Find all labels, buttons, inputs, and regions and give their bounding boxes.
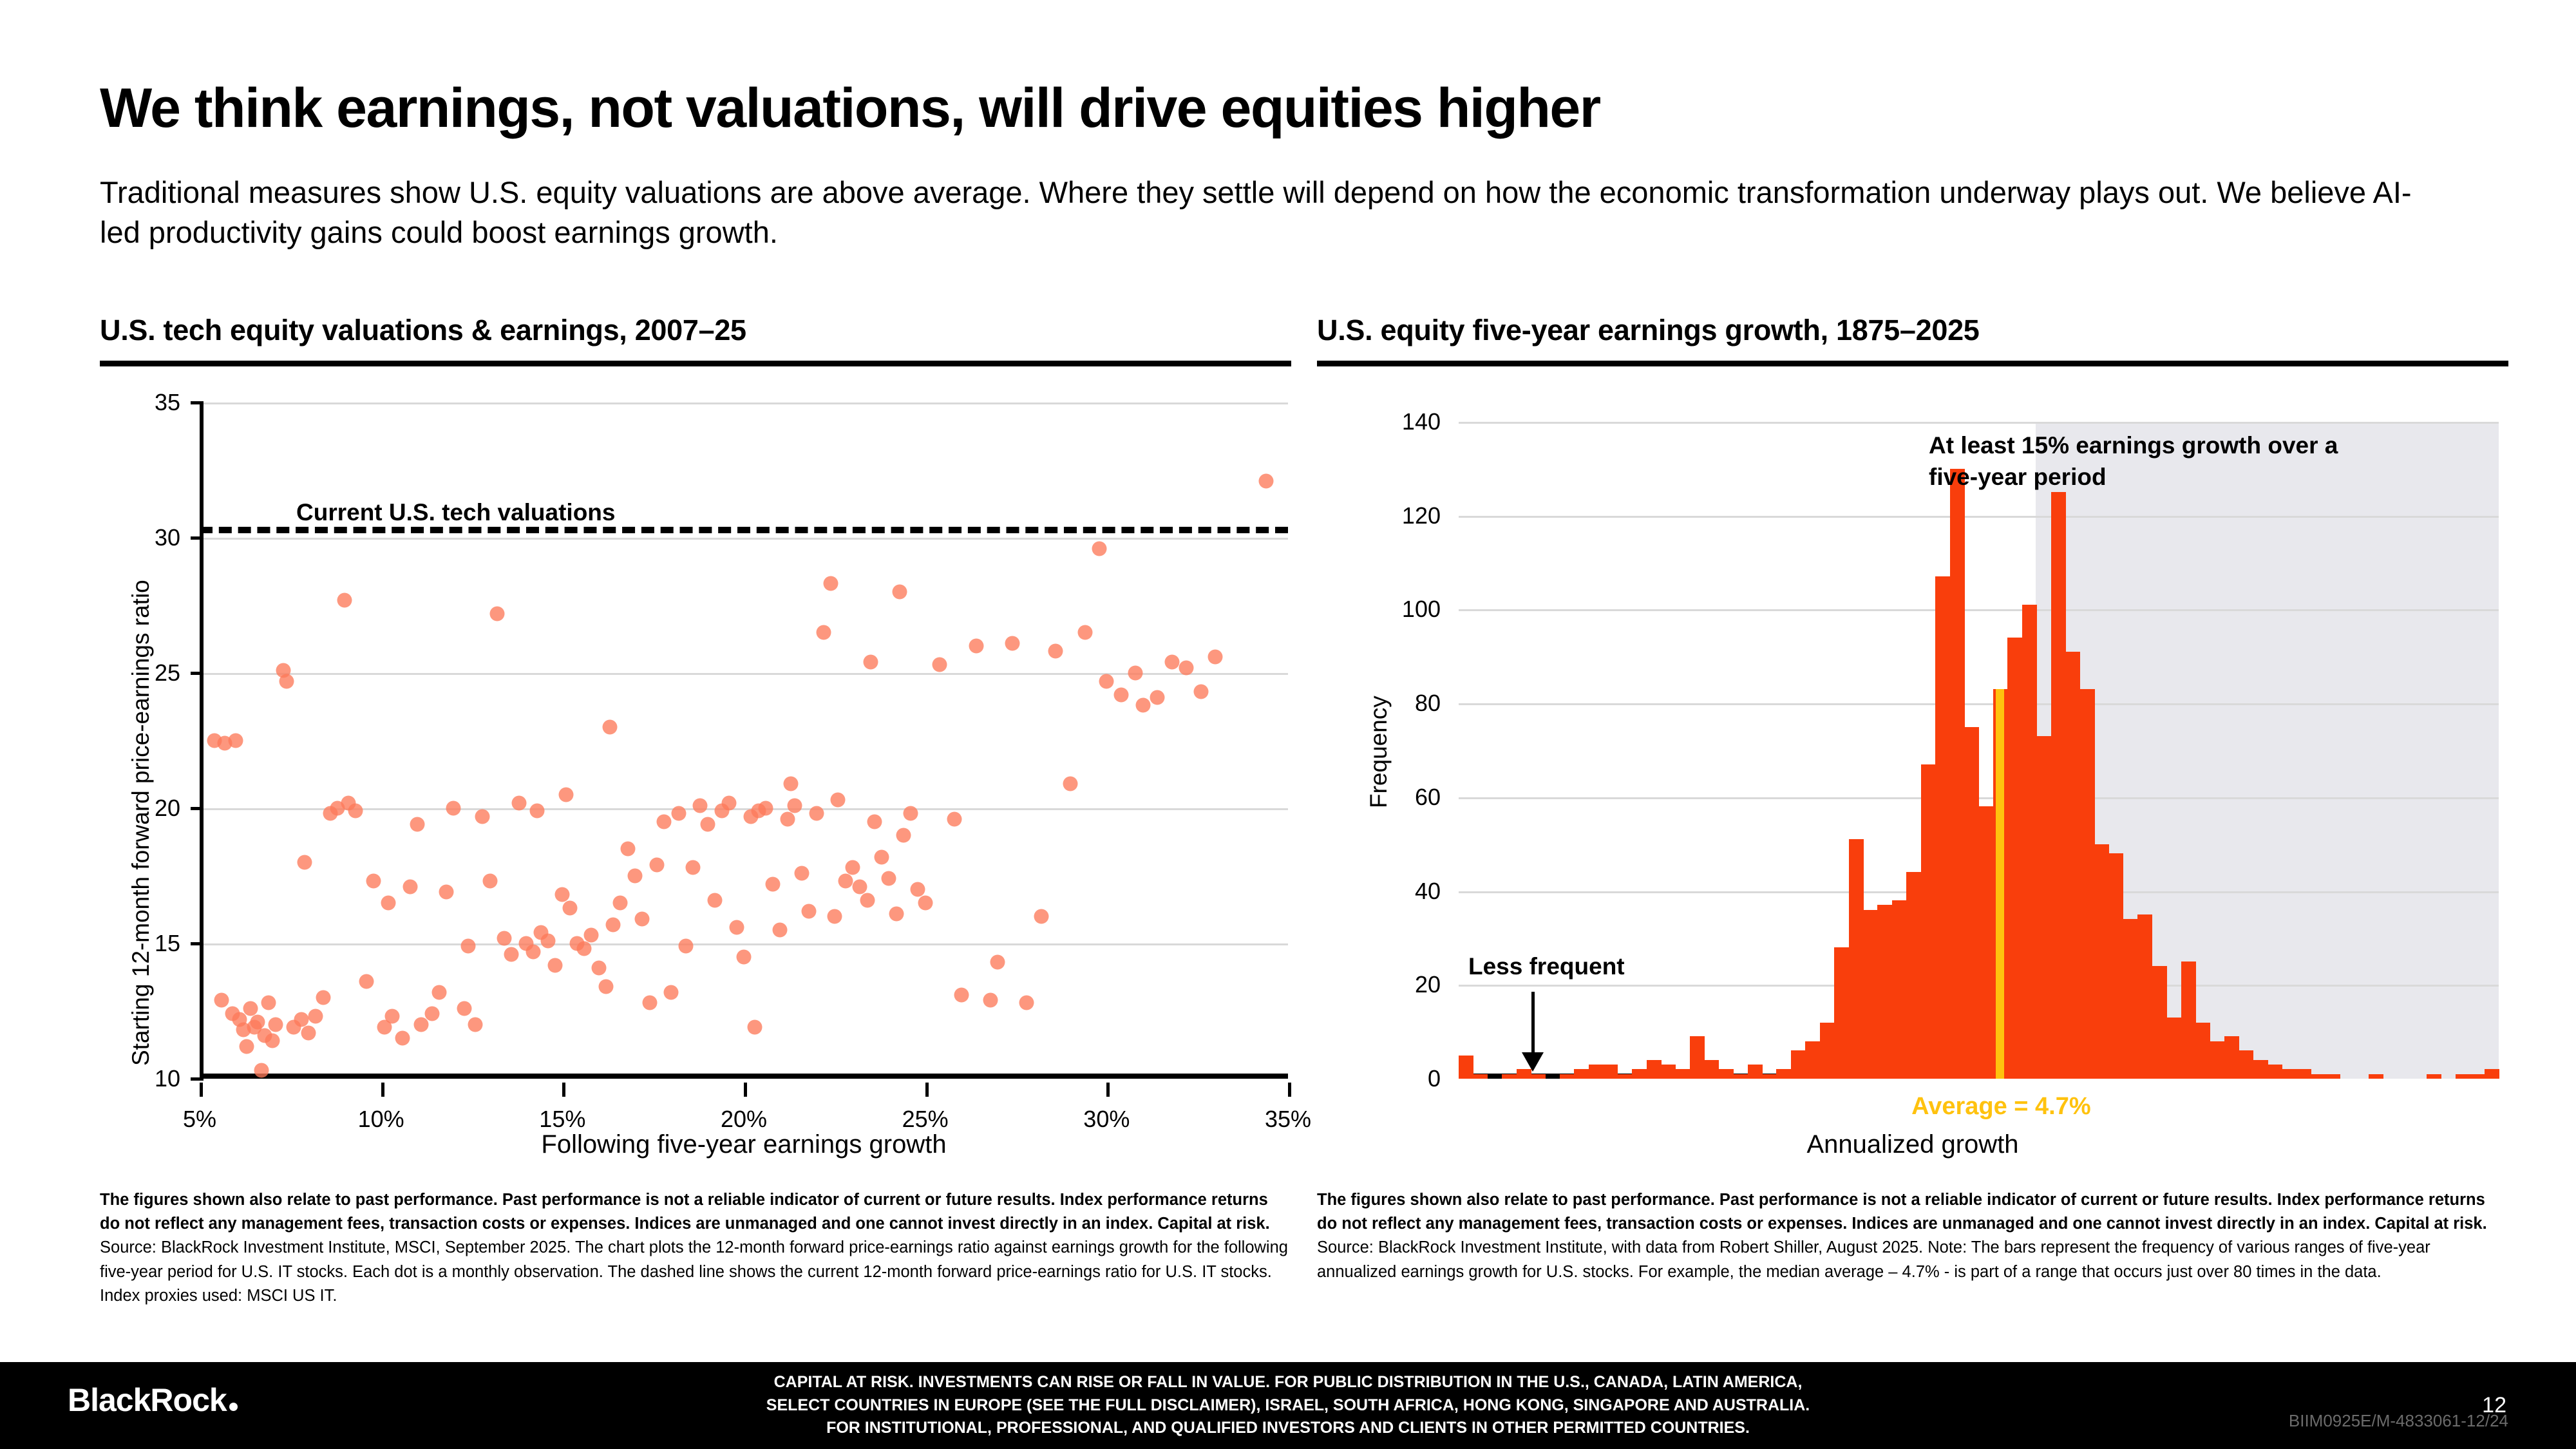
- histogram-bar: [1776, 1069, 1791, 1079]
- scatter-point: [809, 806, 824, 821]
- scatter-point: [577, 942, 592, 956]
- histogram-bar: [1820, 1023, 1835, 1079]
- scatter-point: [243, 1001, 258, 1016]
- scatter-point: [214, 993, 229, 1008]
- scatter-point: [846, 860, 860, 875]
- histogram-bar: [1849, 839, 1864, 1079]
- scatter-point: [279, 674, 294, 688]
- less-frequent-annotation: Less frequent: [1468, 953, 1625, 980]
- scatter-point: [875, 849, 889, 864]
- left-x-axis-title: Following five-year earnings growth: [541, 1130, 946, 1159]
- histogram-bar: [1647, 1060, 1662, 1079]
- y-tick-label: 120: [1402, 502, 1441, 529]
- histogram-bar: [1719, 1069, 1734, 1079]
- scatter-point: [893, 585, 907, 600]
- right-chart-title: U.S. equity five-year earnings growth, 1…: [1317, 314, 1980, 347]
- y-tick-mark: [191, 807, 204, 810]
- gridline: [1459, 516, 2499, 518]
- right-x-axis-title: Annualized growth: [1806, 1130, 2018, 1159]
- scatter-point: [766, 876, 781, 891]
- scatter-point: [348, 804, 363, 819]
- scatter-point: [229, 734, 243, 748]
- y-tick-label: 25: [155, 659, 180, 687]
- scatter-point: [446, 801, 461, 816]
- histogram-bar: [1906, 872, 1921, 1079]
- slide: We think earnings, not valuations, will …: [0, 0, 2576, 1449]
- scatter-point: [1034, 909, 1048, 924]
- scatter-point: [864, 655, 878, 670]
- scatter-point: [889, 906, 904, 921]
- scatter-point: [954, 987, 969, 1002]
- current-valuations-line: [200, 527, 1288, 533]
- scatter-point: [497, 931, 512, 945]
- histogram-bar: [2456, 1074, 2470, 1079]
- left-chart-title: U.S. tech equity valuations & earnings, …: [100, 314, 746, 347]
- y-tick-label: 140: [1402, 408, 1441, 435]
- scatter-point: [240, 1039, 254, 1054]
- scatter-point: [511, 795, 526, 810]
- scatter-point: [558, 788, 573, 802]
- scatter-point: [439, 885, 454, 900]
- scatter-point: [983, 993, 998, 1008]
- gridline: [1459, 703, 2499, 705]
- histogram-bar: [2268, 1065, 2282, 1079]
- scatter-point: [529, 804, 544, 819]
- scatter-point: [413, 1018, 428, 1032]
- scatter-point: [628, 869, 643, 884]
- scatter-point: [1135, 698, 1150, 713]
- scatter-point: [308, 1009, 323, 1024]
- histogram-bar: [1690, 1036, 1705, 1079]
- x-tick-mark: [925, 1083, 929, 1097]
- scatter-point: [395, 1031, 410, 1046]
- scatter-point: [337, 592, 352, 607]
- scatter-point: [251, 1014, 265, 1029]
- gridline: [1459, 422, 2499, 424]
- page-number: 12: [2482, 1393, 2506, 1418]
- histogram-bar: [2239, 1050, 2253, 1079]
- right-footnote-bold: The figures shown also relate to past pe…: [1317, 1191, 2487, 1233]
- scatter-point: [1150, 690, 1165, 705]
- scatter-point: [460, 939, 475, 954]
- x-tick-label: 30%: [1083, 1106, 1130, 1133]
- x-tick-mark: [200, 1083, 203, 1097]
- scatter-point: [1063, 777, 1078, 791]
- scatter-point: [831, 793, 846, 808]
- scatter-point: [860, 893, 875, 907]
- scatter-point: [1164, 655, 1179, 670]
- left-x-axis: [200, 1074, 1288, 1079]
- scatter-point: [410, 817, 425, 832]
- scatter-point: [1019, 996, 1034, 1010]
- scatter-point: [773, 923, 788, 938]
- scatter-point: [827, 909, 842, 924]
- scatter-point: [904, 806, 918, 821]
- scatter-point: [254, 1063, 269, 1078]
- histogram-bar: [2311, 1074, 2325, 1079]
- scatter-point: [707, 893, 722, 907]
- histogram-bar: [2195, 1023, 2210, 1079]
- left-footnote-bold: The figures shown also relate to past pe…: [100, 1191, 1270, 1233]
- y-tick-mark: [191, 942, 204, 945]
- histogram-bar: [1979, 806, 1994, 1079]
- current-valuations-annotation: Current U.S. tech valuations: [296, 499, 616, 526]
- scatter-point: [431, 985, 446, 999]
- y-tick-label: 60: [1415, 784, 1441, 811]
- histogram-bar: [1791, 1050, 1806, 1079]
- histogram-bar: [1589, 1065, 1604, 1079]
- scatter-point: [933, 658, 947, 672]
- scatter-point: [838, 874, 853, 889]
- average-line: [1996, 689, 2004, 1079]
- disclaimer-line-1: CAPITAL AT RISK. INVESTMENTS CAN RISE OR…: [0, 1371, 2576, 1394]
- scatter-point: [598, 980, 613, 994]
- scatter-point: [584, 928, 599, 943]
- gridline: [200, 943, 1288, 945]
- histogram-bar: [1675, 1069, 1690, 1079]
- scatter-point: [294, 1012, 308, 1027]
- x-tick-label: 5%: [183, 1106, 216, 1133]
- scatter-point: [990, 955, 1005, 970]
- left-footnote: The figures shown also relate to past pe…: [100, 1188, 1291, 1308]
- scatter-point: [787, 798, 802, 813]
- average-label: Average = 4.7%: [1911, 1093, 2091, 1121]
- x-tick-label: 35%: [1265, 1106, 1311, 1133]
- histogram-bar: [1704, 1060, 1719, 1079]
- scatter-point: [1099, 674, 1114, 688]
- less-frequent-arrow-stem: [1531, 992, 1535, 1056]
- histogram-bar: [1661, 1065, 1676, 1079]
- gridline: [1459, 609, 2499, 611]
- scatter-point: [1048, 644, 1063, 659]
- scatter-point: [540, 933, 555, 948]
- scatter-point: [678, 939, 693, 954]
- histogram-bar: [2181, 961, 2196, 1079]
- scatter-point: [548, 958, 563, 972]
- x-tick-mark: [1288, 1083, 1291, 1097]
- histogram-bar: [1531, 1074, 1546, 1079]
- right-title-rule: [1317, 361, 2508, 366]
- left-title-rule: [100, 361, 1291, 366]
- footer-band: BlackRock CAPITAL AT RISK. INVESTMENTS C…: [0, 1362, 2576, 1449]
- document-id: BIIM0925E/M-4833061-12/24: [2289, 1411, 2508, 1431]
- footer-disclaimer: CAPITAL AT RISK. INVESTMENTS CAN RISE OR…: [0, 1371, 2576, 1440]
- page-title: We think earnings, not valuations, will …: [100, 80, 1600, 136]
- scatter-point: [402, 879, 417, 894]
- histogram-bar: [2036, 736, 2051, 1079]
- scatter-point: [1128, 666, 1143, 681]
- gridline: [200, 673, 1288, 675]
- scatter-point: [1077, 625, 1092, 640]
- y-tick-label: 100: [1402, 596, 1441, 623]
- less-frequent-arrow-head: [1522, 1052, 1544, 1072]
- histogram-bar: [2369, 1074, 2383, 1079]
- scatter-point: [802, 904, 817, 918]
- histogram-bar: [1603, 1065, 1618, 1079]
- histogram-bar: [2297, 1069, 2311, 1079]
- scatter-point: [620, 842, 635, 857]
- y-tick-label: 10: [155, 1065, 180, 1092]
- scatter-point: [316, 990, 330, 1005]
- scatter-point: [896, 828, 911, 843]
- scatter-point: [468, 1018, 483, 1032]
- y-tick-label: 80: [1415, 690, 1441, 717]
- scatter-point: [649, 858, 664, 873]
- disclaimer-line-3: FOR INSTITUTIONAL, PROFESSIONAL, AND QUA…: [0, 1417, 2576, 1440]
- scatter-point: [602, 720, 617, 735]
- histogram-bar: [2166, 1018, 2181, 1079]
- y-tick-label: 20: [1415, 971, 1441, 998]
- scatter-point: [700, 817, 715, 832]
- scatter-point: [635, 912, 650, 927]
- scatter-point: [911, 882, 925, 897]
- histogram-bar: [1762, 1074, 1777, 1079]
- scatter-point: [947, 811, 961, 826]
- histogram-bar: [1574, 1069, 1589, 1079]
- scatter-point: [366, 874, 381, 889]
- y-tick-label: 40: [1415, 878, 1441, 905]
- histogram-plot-area: 020406080100120140Average = 4.7%: [1459, 422, 2499, 1079]
- scatter-point: [457, 1001, 472, 1016]
- y-tick-mark: [191, 672, 204, 675]
- scatter-point: [1193, 685, 1208, 699]
- scatter-point: [642, 996, 657, 1010]
- scatter-point: [780, 811, 795, 826]
- right-y-axis-title: Frequency: [1365, 696, 1392, 808]
- scatter-point: [816, 625, 831, 640]
- scatter-point: [591, 960, 606, 975]
- scatter-point: [784, 777, 799, 791]
- scatter-point: [1259, 473, 1274, 488]
- scatter-point: [1179, 660, 1194, 675]
- histogram-bar: [1834, 947, 1849, 1079]
- gridline: [200, 402, 1288, 404]
- histogram-bar: [1805, 1041, 1820, 1079]
- left-footnote-rest: Source: BlackRock Investment Institute, …: [100, 1238, 1288, 1304]
- y-tick-mark: [191, 536, 204, 540]
- histogram-bar: [1632, 1069, 1647, 1079]
- histogram-bar: [2427, 1074, 2441, 1079]
- scatter-point: [504, 947, 519, 961]
- scatter-point: [882, 871, 896, 886]
- scatter-point: [269, 1018, 283, 1032]
- scatter-point: [1005, 636, 1019, 650]
- histogram-bar: [1863, 910, 1878, 1079]
- left-y-axis-title: Starting 12-month forward price-earnings…: [128, 580, 155, 1066]
- histogram-bar: [2022, 605, 2037, 1079]
- scatter-point: [606, 917, 621, 932]
- scatter-point: [747, 1020, 762, 1035]
- y-tick-mark: [191, 401, 204, 404]
- scatter-point: [853, 879, 867, 894]
- y-tick-label: 0: [1428, 1065, 1441, 1092]
- histogram-bar: [1921, 764, 1936, 1079]
- histogram-bar: [2123, 919, 2138, 1079]
- x-tick-mark: [744, 1083, 747, 1097]
- scatter-point: [613, 896, 628, 911]
- histogram-bar: [2108, 853, 2123, 1079]
- histogram-bar: [2485, 1069, 2499, 1079]
- histogram-bar: [2325, 1074, 2340, 1079]
- histogram-bar: [2253, 1060, 2268, 1079]
- y-tick-label: 30: [155, 524, 180, 551]
- scatter-point: [359, 974, 374, 989]
- histogram-bar: [1459, 1056, 1473, 1079]
- histogram-bar: [2470, 1074, 2485, 1079]
- x-tick-mark: [562, 1083, 565, 1097]
- histogram-bar: [1892, 900, 1907, 1079]
- scatter-point: [261, 996, 276, 1010]
- histogram-bar: [2051, 492, 2066, 1079]
- scatter-point: [424, 1007, 439, 1021]
- histogram-bar: [2080, 689, 2095, 1079]
- scatter-point: [265, 1034, 279, 1048]
- y-tick-label: 35: [155, 389, 180, 416]
- disclaimer-line-2: SELECT COUNTRIES IN EUROPE (SEE THE FULL…: [0, 1394, 2576, 1417]
- scatter-point: [526, 944, 541, 959]
- histogram-bar: [2224, 1036, 2239, 1079]
- histogram-bar: [1964, 727, 1979, 1079]
- scatter-point: [489, 606, 504, 621]
- scatter-point: [384, 1009, 399, 1024]
- scatter-point: [693, 798, 708, 813]
- x-tick-label: 25%: [902, 1106, 949, 1133]
- histogram-bar: [2282, 1069, 2297, 1079]
- histogram-bar: [2007, 638, 2022, 1079]
- scatter-point: [729, 920, 744, 934]
- scatter-point: [867, 815, 882, 829]
- histogram-bar: [1618, 1074, 1633, 1079]
- scatter-point: [686, 860, 701, 875]
- scatter-point: [1092, 541, 1107, 556]
- scatter-point: [824, 576, 838, 591]
- x-tick-label: 15%: [539, 1106, 585, 1133]
- scatter-point: [301, 1025, 316, 1040]
- scatter-point: [657, 815, 672, 829]
- histogram-bar: [1473, 1074, 1488, 1079]
- y-tick-mark: [191, 1077, 204, 1081]
- histogram-bar: [2065, 652, 2080, 1079]
- right-footnote-rest: Source: BlackRock Investment Institute, …: [1317, 1238, 2430, 1280]
- x-tick-label: 10%: [358, 1106, 404, 1133]
- scatter-point: [671, 806, 686, 821]
- histogram-bar: [1935, 576, 1950, 1079]
- scatter-point: [758, 801, 773, 816]
- histogram-bar: [1748, 1065, 1763, 1079]
- histogram-bar: [1502, 1074, 1517, 1079]
- left-y-axis: [200, 402, 204, 1079]
- scatter-point: [1113, 687, 1128, 702]
- scatter-point: [482, 874, 497, 889]
- gridline: [200, 538, 1288, 540]
- scatter-point: [737, 950, 752, 965]
- shaded-region-note: At least 15% earnings growth over a five…: [1929, 430, 2380, 493]
- y-tick-label: 20: [155, 795, 180, 822]
- scatter-point: [475, 809, 490, 824]
- right-footnote: The figures shown also relate to past pe…: [1317, 1188, 2508, 1284]
- scatter-point: [795, 866, 810, 880]
- histogram-bar: [2137, 914, 2152, 1079]
- scatter-point: [664, 985, 679, 999]
- scatter-point: [298, 855, 312, 870]
- histogram-bar: [1877, 905, 1892, 1079]
- scatter-point: [918, 896, 933, 911]
- scatter-point: [562, 901, 577, 916]
- scatter-point: [1208, 649, 1223, 664]
- histogram-bar: [2210, 1041, 2224, 1079]
- histogram-bar: [1950, 469, 1965, 1079]
- y-tick-label: 15: [155, 930, 180, 957]
- scatter-point: [969, 639, 983, 654]
- scatter-point: [555, 887, 570, 902]
- histogram-bar: [1733, 1074, 1748, 1079]
- histogram-bar: [2152, 966, 2167, 1079]
- x-tick-label: 20%: [721, 1106, 767, 1133]
- x-tick-mark: [381, 1083, 384, 1097]
- scatter-point: [381, 896, 395, 911]
- x-tick-mark: [1106, 1083, 1110, 1097]
- scatter-point: [722, 795, 737, 810]
- page-subtitle: Traditional measures show U.S. equity va…: [100, 173, 2418, 252]
- histogram-bar: [1560, 1074, 1575, 1079]
- histogram-bar: [2094, 844, 2109, 1079]
